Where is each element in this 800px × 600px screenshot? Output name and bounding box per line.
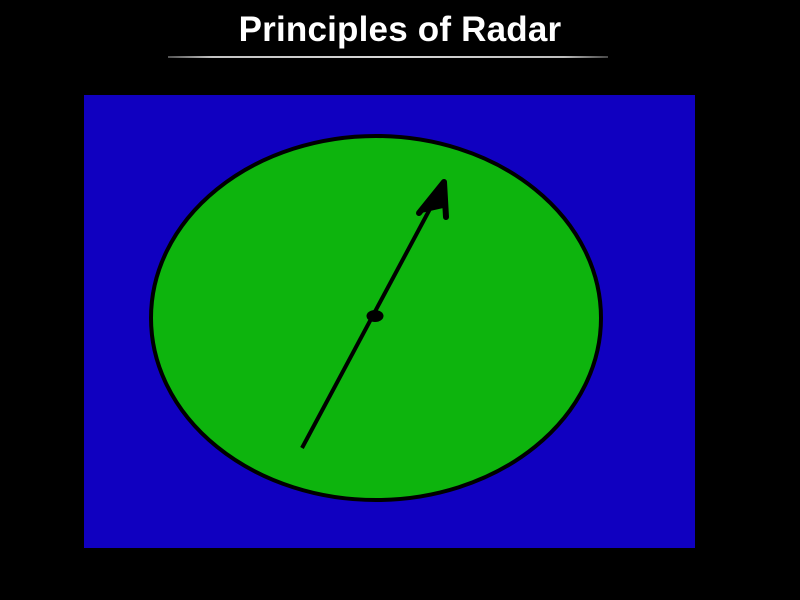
page-title: Principles of Radar <box>0 10 800 50</box>
diagram-panel <box>84 95 695 548</box>
radar-site-marker <box>367 310 384 322</box>
radar-coverage-diagram <box>84 95 695 548</box>
title-underline-rule <box>168 56 608 58</box>
slide-canvas: Principles of Radar <box>0 0 800 600</box>
